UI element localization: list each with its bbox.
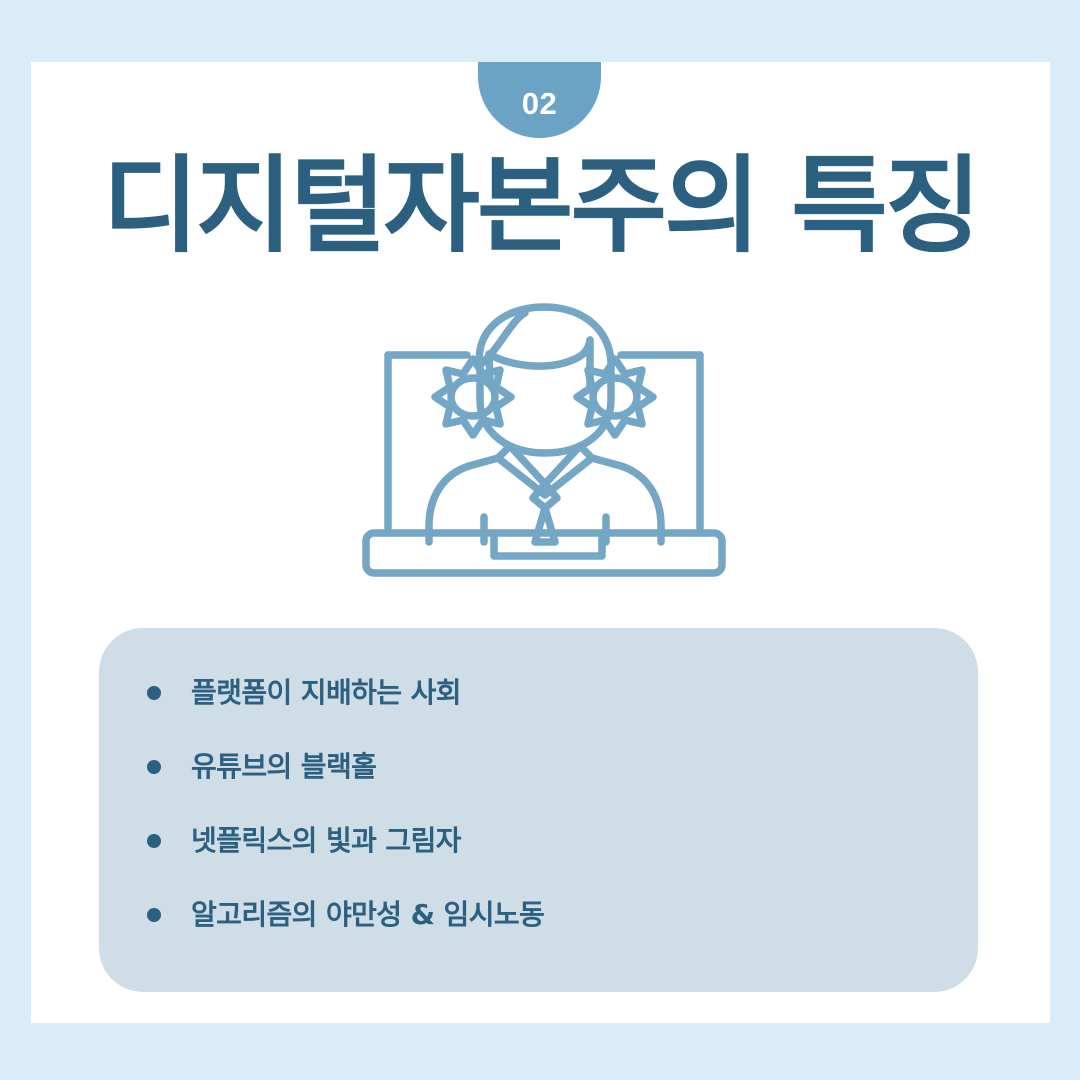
list-item: 알고리즘의 야만성 & 임시노동 — [147, 898, 544, 932]
bullet-dot-icon — [147, 760, 161, 774]
section-number-label: 02 — [522, 88, 557, 119]
list-item-label: 유튜브의 블랙홀 — [191, 753, 376, 781]
page-title: 디지털자본주의 특징 — [31, 150, 1050, 263]
bullet-dot-icon — [147, 908, 161, 922]
bullet-dot-icon — [147, 686, 161, 700]
list-item: 플랫폼이 지배하는 사회 — [147, 676, 461, 710]
section-number-badge: 02 — [478, 62, 601, 138]
list-item-label: 알고리즘의 야만성 & 임시노동 — [191, 901, 544, 929]
list-item: 넷플릭스의 빛과 그림자 — [147, 824, 461, 858]
list-item-label: 플랫폼이 지배하는 사회 — [191, 679, 461, 707]
list-item-label: 넷플릭스의 빛과 그림자 — [191, 827, 461, 855]
bullet-dot-icon — [147, 834, 161, 848]
bullet-list-panel: 플랫폼이 지배하는 사회 유튜브의 블랙홀 넷플릭스의 빛과 그림자 알고리즘의… — [99, 628, 978, 992]
list-item: 유튜브의 블랙홀 — [147, 750, 376, 784]
content-card: 02 디지털자본주의 특징 — [31, 62, 1050, 1023]
slide-root: 02 디지털자본주의 특징 — [0, 0, 1080, 1080]
laptop-businessman-gears-icon — [349, 290, 739, 590]
